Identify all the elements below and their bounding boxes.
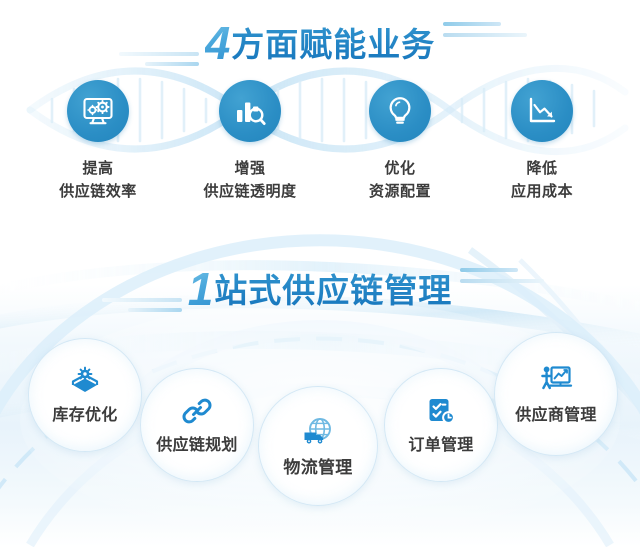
clipboard-clock-icon xyxy=(425,395,457,427)
feature-icon-circle-2 xyxy=(219,80,281,142)
section-two-number: 1 xyxy=(188,263,215,315)
bubble-supplier-management[interactable]: 供应商管理 xyxy=(494,332,618,456)
feature-label-3-line2: 资源配置 xyxy=(330,181,470,204)
chain-link-icon xyxy=(181,395,213,427)
feature-label-2-line1: 增强 xyxy=(180,158,320,181)
title-accent-line-left-2 xyxy=(119,52,199,56)
feature-label-2-line2: 供应链透明度 xyxy=(180,181,320,204)
feature-icon-circle-1 xyxy=(67,80,129,142)
bubble-label-supply-chain-planning: 供应链规划 xyxy=(156,431,238,455)
title-accent-line-right-1 xyxy=(443,22,501,26)
title2-accent-line-right-2 xyxy=(460,279,544,283)
feature-row: 提高 供应链效率 增强 供应链透明度 xyxy=(0,80,640,220)
section-one-heading: 方面赋能业务 xyxy=(231,26,435,63)
lightbulb-icon xyxy=(383,94,417,128)
feature-icon-circle-3 xyxy=(369,80,431,142)
title-accent-line-right-2 xyxy=(443,33,527,37)
feature-label-2: 增强 供应链透明度 xyxy=(180,158,320,203)
feature-item-1[interactable]: 提高 供应链效率 xyxy=(28,80,168,203)
feature-label-4: 降低 应用成本 xyxy=(472,158,612,203)
feature-label-4-line1: 降低 xyxy=(472,158,612,181)
feature-label-1: 提高 供应链效率 xyxy=(28,158,168,203)
bubble-cluster: 库存优化 供应链规划 xyxy=(0,320,640,520)
title2-accent-line-left-1 xyxy=(128,308,182,312)
title2-accent-line-right-1 xyxy=(460,268,518,272)
feature-item-2[interactable]: 增强 供应链透明度 xyxy=(180,80,320,203)
feature-label-3-line1: 优化 xyxy=(330,158,470,181)
bar-chart-search-icon xyxy=(233,94,267,128)
title2-accent-line-left-2 xyxy=(102,298,182,302)
bubble-label-logistics-management: 物流管理 xyxy=(283,453,352,478)
presenter-board-icon xyxy=(539,363,573,397)
bubble-label-supplier-management: 供应商管理 xyxy=(515,401,597,425)
title-accent-line-left-1 xyxy=(145,62,199,66)
declining-chart-icon xyxy=(525,94,559,128)
feature-icon-circle-4 xyxy=(511,80,573,142)
globe-truck-icon xyxy=(301,415,335,449)
section-one-number: 4 xyxy=(205,17,232,69)
feature-item-3[interactable]: 优化 资源配置 xyxy=(330,80,470,203)
feature-label-4-line2: 应用成本 xyxy=(472,181,612,204)
bubble-order-management[interactable]: 订单管理 xyxy=(384,368,498,482)
feature-item-4[interactable]: 降低 应用成本 xyxy=(472,80,612,203)
infographic-canvas: 4方面赋能业务 xyxy=(0,0,640,547)
inventory-box-gear-icon xyxy=(69,365,101,397)
section-two-heading: 站式供应链管理 xyxy=(214,272,452,309)
feature-label-3: 优化 资源配置 xyxy=(330,158,470,203)
bubble-logistics-management[interactable]: 物流管理 xyxy=(258,386,378,506)
section-two-title: 1站式供应链管理 xyxy=(0,262,640,316)
bubble-label-inventory-optimization: 库存优化 xyxy=(52,401,117,425)
monitor-gears-icon xyxy=(81,94,115,128)
bubble-supply-chain-planning[interactable]: 供应链规划 xyxy=(140,368,254,482)
feature-label-1-line2: 供应链效率 xyxy=(28,181,168,204)
bubble-label-order-management: 订单管理 xyxy=(408,431,473,455)
section-one-title: 4方面赋能业务 xyxy=(0,16,640,70)
bubble-inventory-optimization[interactable]: 库存优化 xyxy=(28,338,142,452)
feature-label-1-line1: 提高 xyxy=(28,158,168,181)
